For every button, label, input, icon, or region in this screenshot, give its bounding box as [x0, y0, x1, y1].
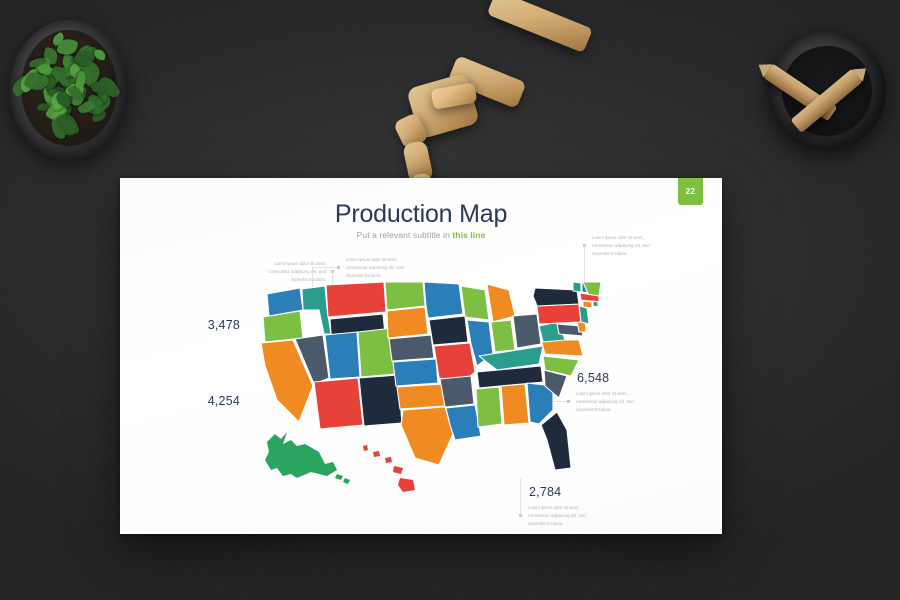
state-AK — [265, 432, 337, 478]
state-IA — [429, 316, 468, 345]
state-OR — [263, 311, 303, 342]
callout-line: consectetur adipiscing elit. Sed — [216, 268, 326, 276]
state-WI — [461, 286, 489, 320]
callout-line: Lorem ipsum dolor sit amet, — [592, 234, 704, 242]
state-NJ — [579, 306, 589, 324]
callout-top-right: Lorem ipsum dolor sit amet, consectetur … — [592, 234, 704, 257]
state-AL — [501, 384, 529, 425]
presentation-slide[interactable]: 22 Production Map Put a relevant subtitl… — [120, 178, 722, 534]
callout-line: imperdiet tincidunt. — [346, 272, 456, 280]
callout-line: consectetur adipiscing elit. Sed — [592, 242, 704, 250]
callout-line: Lorem ipsum dolor sit amet, — [216, 260, 326, 268]
state-NY — [533, 288, 579, 306]
page-title: Production Map — [120, 200, 722, 229]
stat-left-upper: 3,478 — [160, 318, 240, 332]
stat-left-lower: 4,254 — [160, 394, 240, 408]
pencil-cup — [762, 26, 894, 158]
state-AZ — [314, 378, 363, 429]
state-IN — [491, 320, 515, 352]
wooden-mannequin-arm — [396, 24, 596, 202]
callout-top-left: Lorem ipsum dolor sit amet, consectetur … — [216, 260, 326, 283]
state-CT — [583, 301, 592, 308]
state-UT — [325, 332, 360, 379]
callout-top-center: Lorem ipsum dolor sit amet, consectetur … — [346, 256, 456, 279]
callout-line: imperdiet tincidunt. — [592, 250, 704, 258]
state-PA — [537, 304, 581, 324]
subtitle-highlight: this line — [452, 230, 485, 240]
callout-marker-top-center — [337, 266, 340, 269]
state-RI — [593, 301, 598, 307]
state-OH — [513, 314, 541, 348]
state-MS — [476, 387, 502, 427]
us-production-map[interactable] — [253, 282, 601, 510]
state-VA — [541, 340, 583, 356]
state-KS — [393, 359, 438, 386]
callout-line: consectetur adipiscing elit. Sed — [528, 512, 640, 520]
subtitle-prefix: Put a relevant subtitle in — [357, 230, 453, 240]
us-map-svg[interactable] — [253, 282, 601, 510]
callout-line: consectetur adipiscing elit. Sed — [346, 264, 456, 272]
state-AR — [440, 376, 474, 407]
state-FL — [541, 412, 571, 470]
state-MI — [487, 284, 515, 322]
callout-line: imperdiet tincidunt. — [528, 520, 640, 528]
callout-line: Lorem ipsum dolor sit amet, — [346, 256, 456, 264]
state-SD — [387, 307, 428, 338]
state-NE — [389, 335, 434, 361]
state-AK-islands — [335, 474, 350, 484]
state-TX — [401, 407, 453, 465]
state-OK — [397, 384, 445, 409]
state-MT — [326, 282, 386, 317]
map-states — [261, 282, 601, 492]
state-VT — [573, 282, 581, 292]
potted-plant — [8, 16, 130, 164]
leader-line-top-center-h — [312, 267, 337, 268]
state-HI — [363, 445, 415, 492]
state-MN — [424, 282, 463, 318]
state-ND — [385, 282, 425, 310]
